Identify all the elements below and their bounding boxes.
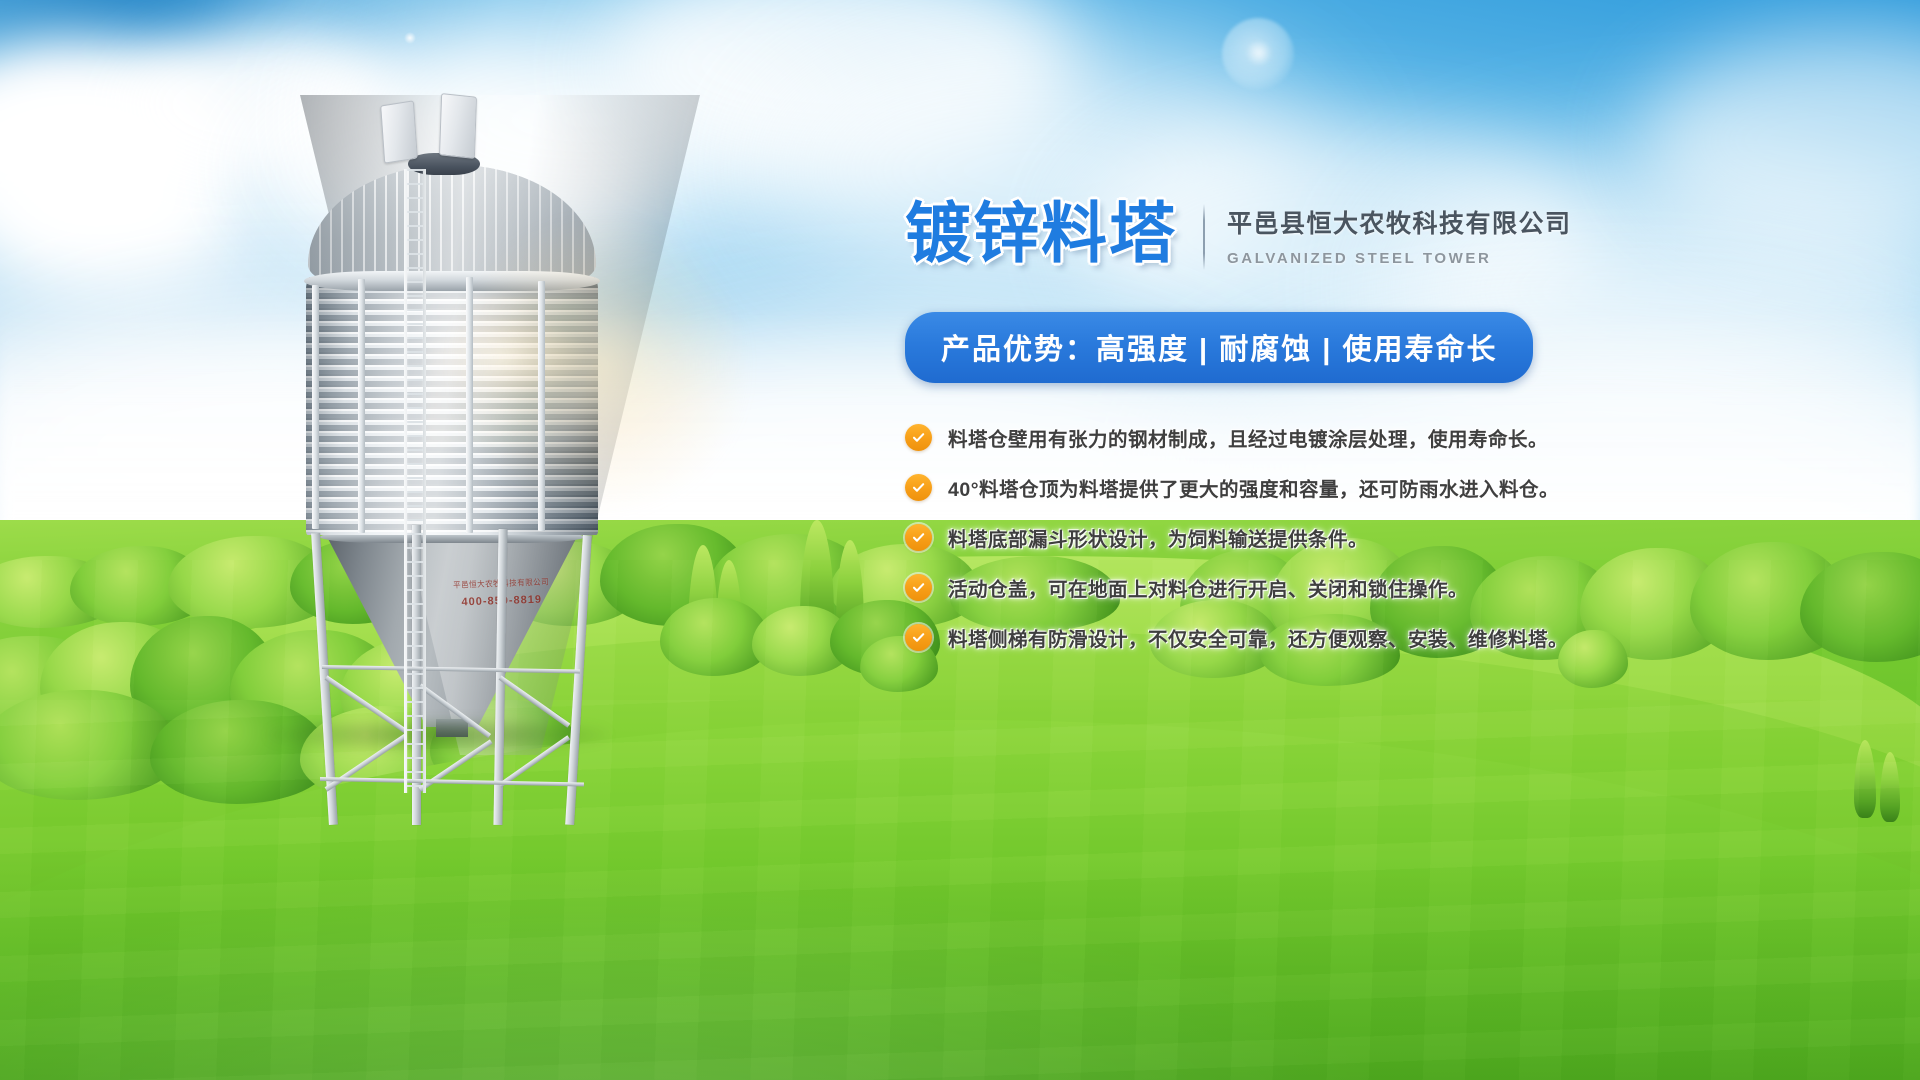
list-item-label: 料塔底部漏斗形状设计，为饲料输送提供条件。 xyxy=(948,523,1368,552)
galvanized-feed-silo: 平邑恒大农牧科技有限公司 400-850-8819 xyxy=(300,95,700,755)
check-circle-icon xyxy=(905,624,932,651)
company-name-cn: 平邑县恒大农牧科技有限公司 xyxy=(1227,204,1572,240)
silo-ring-brace xyxy=(322,665,580,674)
silo-cross-brace xyxy=(419,683,492,738)
silo-vertical-seam xyxy=(312,285,319,529)
company-block: 平邑县恒大农牧科技有限公司 GALVANIZED STEEL TOWER xyxy=(1227,200,1572,267)
list-item: 料塔底部漏斗形状设计，为饲料输送提供条件。 xyxy=(905,523,1585,552)
title-divider xyxy=(1203,204,1205,270)
silo-vertical-seam xyxy=(538,281,545,531)
silo-side-ladder xyxy=(404,169,426,793)
banner-stage: 平邑恒大农牧科技有限公司 400-850-8819 xyxy=(0,0,1920,1080)
list-item: 活动仓盖，可在地面上对料仓进行开启、关闭和锁住操作。 xyxy=(905,573,1585,602)
silo-cross-brace xyxy=(499,735,571,787)
check-circle-icon xyxy=(905,524,932,551)
check-circle-icon xyxy=(905,574,932,601)
list-item-label: 40°料塔仓顶为料塔提供了更大的强度和容量，还可防雨水进入料仓。 xyxy=(948,473,1559,502)
silo-roof-eave xyxy=(304,271,600,291)
silo-cross-brace xyxy=(499,675,571,727)
silo-vertical-seam xyxy=(358,279,365,533)
silo-ladder-highlight xyxy=(404,169,426,793)
silo-sun-flare xyxy=(426,297,598,447)
banner-text-panel: 镀锌料塔 平邑县恒大农牧科技有限公司 GALVANIZED STEEL TOWE… xyxy=(905,200,1585,673)
page-title: 镀锌料塔 xyxy=(905,200,1177,266)
silo-roof-shading xyxy=(308,165,596,283)
title-row: 镀锌料塔 平邑县恒大农牧科技有限公司 GALVANIZED STEEL TOWE… xyxy=(905,200,1585,270)
advantage-badge: 产品优势：高强度 | 耐腐蚀 | 使用寿命长 xyxy=(905,312,1533,383)
silo-support-legs xyxy=(300,525,700,825)
silo-top-hatch-lid xyxy=(439,93,477,159)
lens-flare-core xyxy=(1246,40,1272,66)
company-name-en: GALVANIZED STEEL TOWER xyxy=(1227,250,1572,267)
silo-corrugated-body xyxy=(306,277,598,535)
list-item: 料塔仓壁用有张力的钢材制成，且经过电镀涂层处理，使用寿命长。 xyxy=(905,423,1585,452)
silo-cross-brace xyxy=(325,675,407,733)
silo-cross-brace xyxy=(325,734,407,792)
list-item-label: 料塔侧梯有防滑设计，不仅安全可靠，还方便观察、安装、维修料塔。 xyxy=(948,623,1568,652)
list-item: 40°料塔仓顶为料塔提供了更大的强度和容量，还可防雨水进入料仓。 xyxy=(905,473,1585,502)
list-item: 料塔侧梯有防滑设计，不仅安全可靠，还方便观察、安装、维修料塔。 xyxy=(905,623,1585,652)
check-circle-icon xyxy=(905,474,932,501)
feature-list: 料塔仓壁用有张力的钢材制成，且经过电镀涂层处理，使用寿命长。 40°料塔仓顶为料… xyxy=(905,423,1585,652)
silo-top-hatch-lid xyxy=(380,100,418,163)
silo-ring-brace xyxy=(320,777,584,787)
list-item-label: 活动仓盖，可在地面上对料仓进行开启、关闭和锁住操作。 xyxy=(948,573,1468,602)
silo-vertical-seam xyxy=(466,277,473,533)
silo-conical-roof xyxy=(308,165,596,283)
lens-flare-dot xyxy=(404,32,416,44)
list-item-label: 料塔仓壁用有张力的钢材制成，且经过电镀涂层处理，使用寿命长。 xyxy=(948,423,1548,452)
check-circle-icon xyxy=(905,424,932,451)
